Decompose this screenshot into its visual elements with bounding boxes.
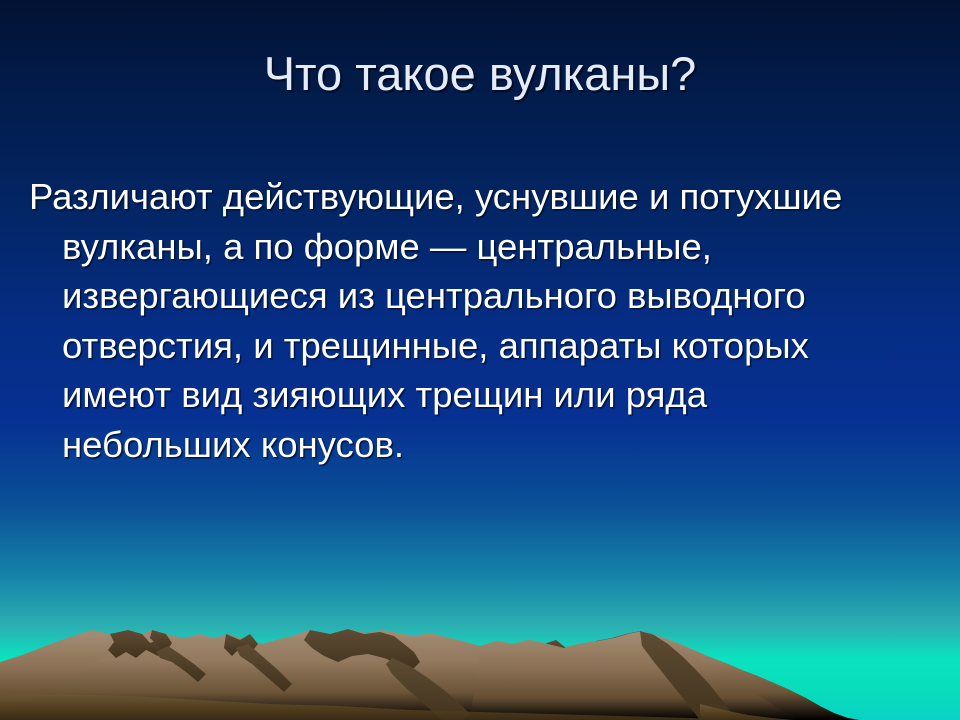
slide-body-container: Различают действующие, уснувшие и потухш… (62, 172, 898, 469)
slide-body-paragraph: Различают действующие, уснувшие и потухш… (29, 172, 898, 469)
presentation-slide: Что такое вулканы? Различают действующие… (0, 0, 960, 720)
mountain-silhouette (0, 600, 960, 720)
slide-title: Что такое вулканы? (0, 46, 960, 102)
